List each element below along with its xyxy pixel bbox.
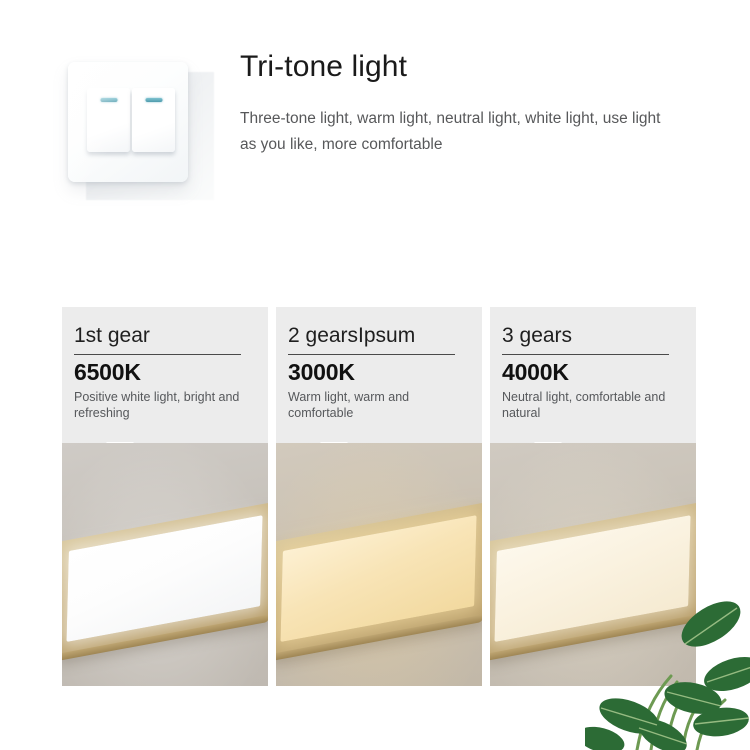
gear-panel[interactable]: 2 gearsIpsum 3000K Warm light, warm and … (276, 307, 482, 686)
gear-label: 3 gears (502, 323, 684, 348)
gear-label: 2 gearsIpsum (288, 323, 470, 348)
wall-switch-two-gang-icon (58, 52, 218, 200)
gear-panel[interactable]: 1st gear 6500K Positive white light, bri… (62, 307, 268, 686)
switch-rocker-right[interactable] (132, 88, 175, 152)
gear-panel-caption: 3 gears 4000K Neutral light, comfortable… (490, 307, 696, 443)
kelvin-value: 3000K (288, 358, 470, 387)
hero-section: Tri-tone light Three-tone light, warm li… (0, 0, 750, 260)
divider (288, 354, 455, 355)
led-indicator-icon (145, 98, 162, 102)
gear-description: Positive white light, bright and refresh… (74, 389, 256, 421)
divider (502, 354, 669, 355)
led-indicator-icon (100, 98, 117, 102)
gear-description: Warm light, warm and comfortable (288, 389, 470, 421)
potted-plant-icon (585, 590, 750, 750)
gear-panel-caption: 1st gear 6500K Positive white light, bri… (62, 307, 268, 443)
switch-rocker-left[interactable] (87, 88, 130, 152)
gear-panel-caption: 2 gearsIpsum 3000K Warm light, warm and … (276, 307, 482, 443)
gear-label: 1st gear (74, 323, 256, 348)
page-subtitle: Three-tone light, warm light, neutral li… (240, 106, 680, 158)
page-title: Tri-tone light (240, 50, 407, 84)
kelvin-value: 6500K (74, 358, 256, 387)
divider (74, 354, 241, 355)
kelvin-value: 4000K (502, 358, 684, 387)
switch-faceplate (68, 62, 188, 182)
ceiling-light-photo (276, 443, 482, 686)
gear-description: Neutral light, comfortable and natural (502, 389, 684, 421)
ceiling-light-photo (62, 443, 268, 686)
